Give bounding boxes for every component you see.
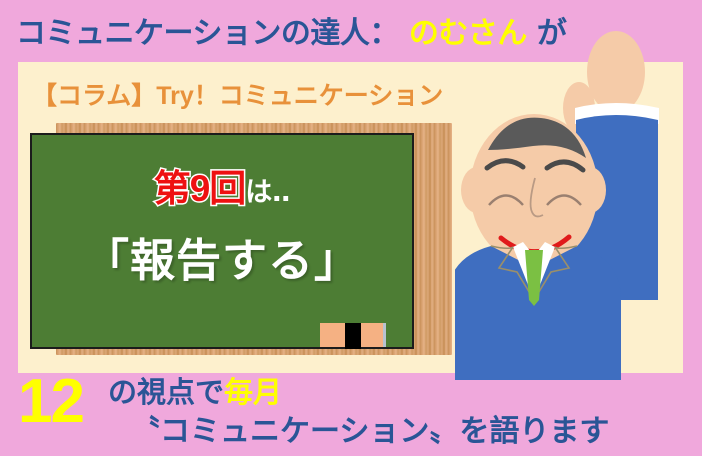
footer: 12 の視点で毎月 〝コミュニケーション〟を語ります	[0, 373, 702, 456]
headline-suffix: が	[537, 19, 567, 49]
footer-number: 12	[18, 371, 83, 433]
poster-canvas: コミュニケーションの達人： のむさん が 【コラム】Try！コミュニケーション …	[0, 0, 702, 456]
blackboard-eraser-band	[345, 323, 361, 349]
headline-name: のむさん	[409, 19, 527, 49]
footer-line-1-part-1: の視点で	[108, 377, 224, 409]
footer-line-1: の視点で毎月	[108, 379, 282, 408]
episode-number: 第9回	[154, 168, 246, 209]
chalkboard-topic: 「報告する」	[32, 224, 412, 289]
column-title: 【コラム】Try！コミュニケーション	[32, 76, 443, 112]
footer-line-1-part-2: 毎月	[224, 377, 282, 409]
headline-prefix: コミュニケーションの達人：	[16, 19, 399, 49]
episode-suffix: は‥	[245, 177, 290, 207]
chalkboard-episode-line: 第9回は‥	[32, 158, 412, 212]
headline: コミュニケーションの達人： のむさん が	[0, 8, 702, 60]
footer-line-2: 〝コミュニケーション〟を語ります	[130, 417, 609, 447]
